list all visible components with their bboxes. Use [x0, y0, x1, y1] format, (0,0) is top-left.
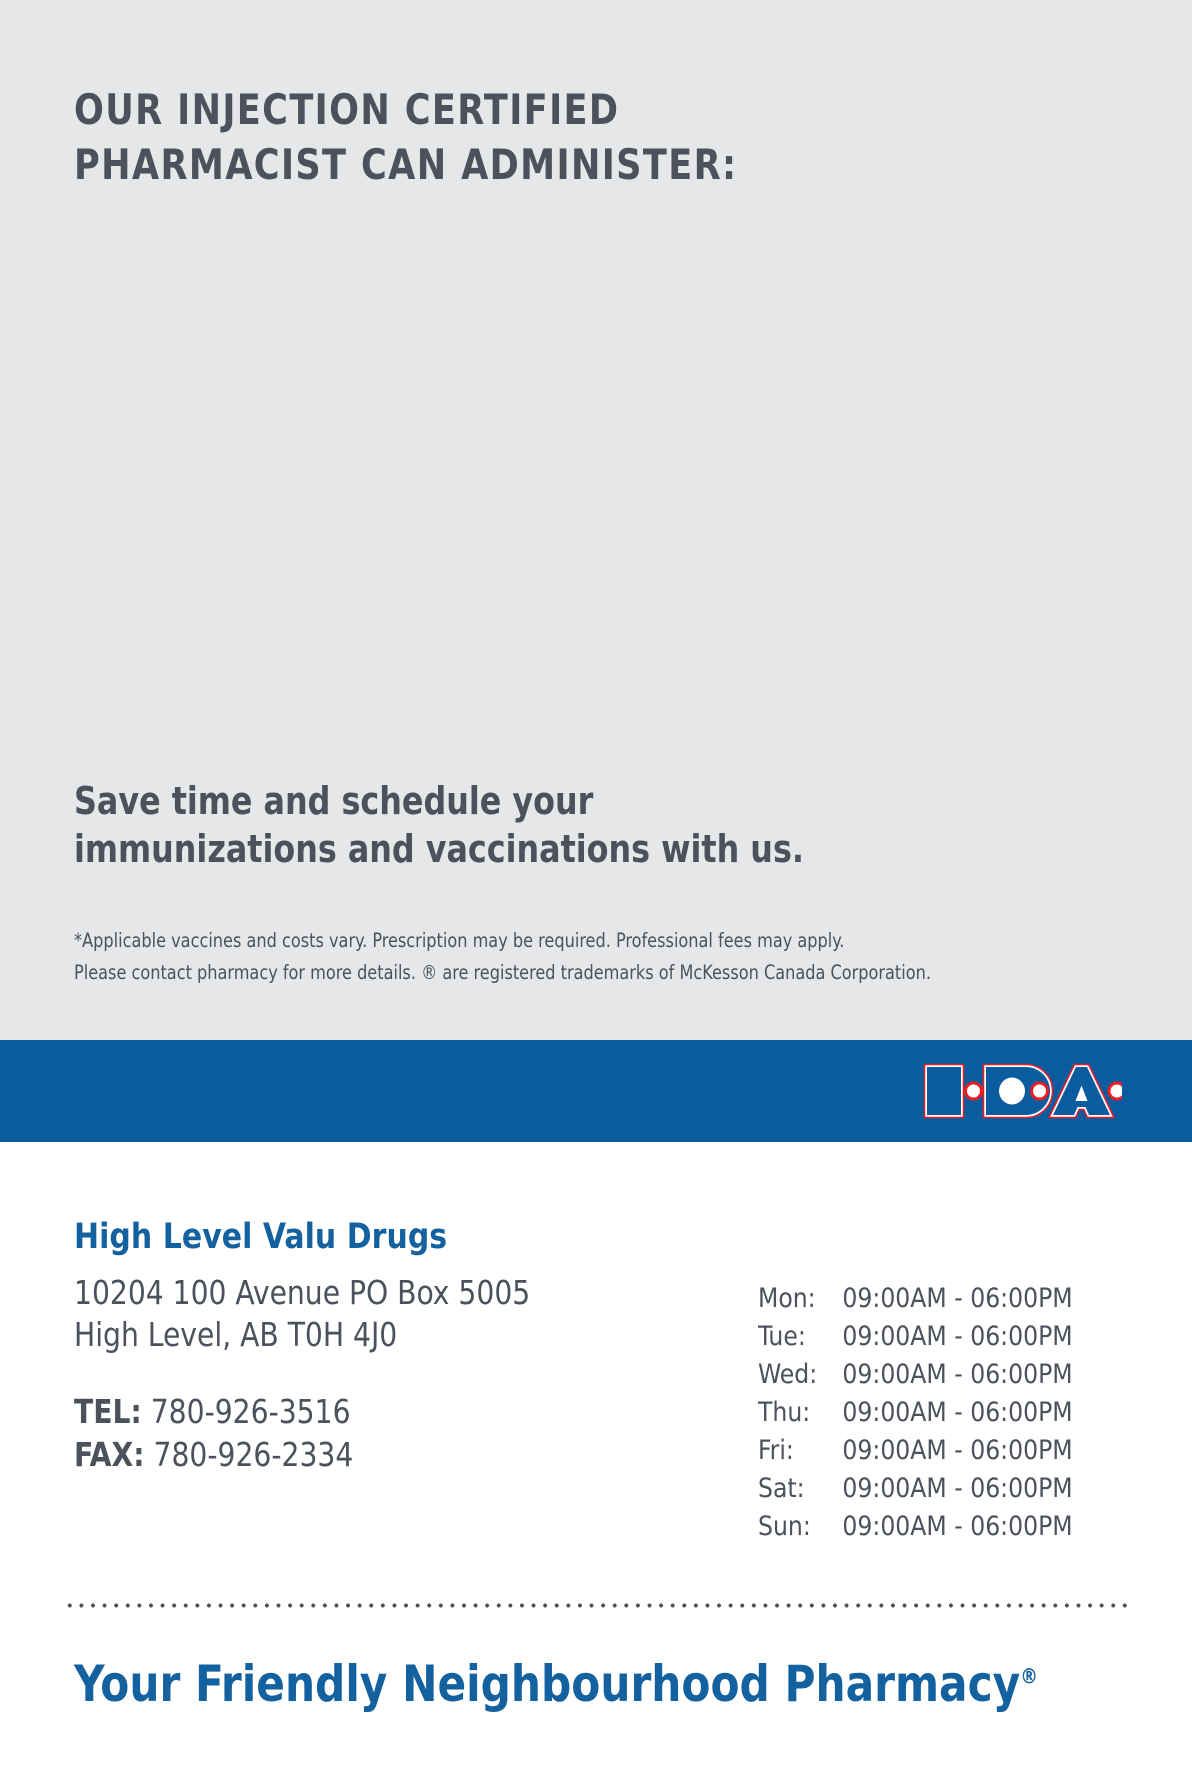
- table-row: Sun: 09:00AM - 06:00PM: [758, 1513, 1073, 1551]
- store-address: 10204 100 Avenue PO Box 5005 High Level,…: [74, 1272, 530, 1356]
- hours-time-value: 09:00AM - 06:00PM: [842, 1361, 1072, 1399]
- dotted-divider: [64, 1602, 1128, 1609]
- address-line-1: 10204 100 Avenue PO Box 5005: [74, 1273, 530, 1312]
- headline-line-1: OUR INJECTION CERTIFIED: [74, 85, 619, 134]
- brand-band: ®: [0, 1040, 1192, 1142]
- hours-day-label: Mon:: [758, 1285, 842, 1323]
- hours-time-value: 09:00AM - 06:00PM: [842, 1437, 1072, 1475]
- fax-row: FAX: 780-926-2334: [74, 1434, 353, 1477]
- table-row: Sat: 09:00AM - 06:00PM: [758, 1475, 1073, 1513]
- address-line-2: High Level, AB T0H 4J0: [74, 1314, 530, 1356]
- store-hours-body: Mon: 09:00AM - 06:00PM Tue: 09:00AM - 06…: [758, 1285, 1073, 1551]
- hours-time-value: 09:00AM - 06:00PM: [842, 1285, 1072, 1323]
- hours-day-label: Wed:: [758, 1361, 842, 1399]
- subheading-line-1: Save time and schedule your: [74, 779, 593, 823]
- store-name: High Level Valu Drugs: [74, 1218, 447, 1257]
- hours-day-label: Fri:: [758, 1437, 842, 1475]
- disclaimer: *Applicable vaccines and costs vary. Pre…: [74, 925, 1049, 988]
- store-hours-table: Mon: 09:00AM - 06:00PM Tue: 09:00AM - 06…: [758, 1285, 1073, 1551]
- headline-line-2: PHARMACIST CAN ADMINISTER:: [74, 138, 911, 193]
- disclaimer-line-1: *Applicable vaccines and costs vary. Pre…: [74, 929, 844, 952]
- tagline-text: Your Friendly Neighbourhood Pharmacy: [74, 1655, 1020, 1713]
- top-gray-panel: OUR INJECTION CERTIFIED PHARMACIST CAN A…: [0, 0, 1192, 1040]
- hours-day-label: Thu:: [758, 1399, 842, 1437]
- table-row: Tue: 09:00AM - 06:00PM: [758, 1323, 1073, 1361]
- telephone-value[interactable]: 780-926-3516: [151, 1392, 351, 1431]
- disclaimer-line-2: Please contact pharmacy for more details…: [74, 957, 1049, 989]
- hours-time-value: 09:00AM - 06:00PM: [842, 1399, 1072, 1437]
- store-contact: TEL: 780-926-3516 FAX: 780-926-2334: [74, 1391, 353, 1477]
- store-info-footer: High Level Valu Drugs 10204 100 Avenue P…: [0, 1142, 1192, 1785]
- telephone-label: TEL:: [74, 1392, 142, 1431]
- table-row: Fri: 09:00AM - 06:00PM: [758, 1437, 1073, 1475]
- table-row: Wed: 09:00AM - 06:00PM: [758, 1361, 1073, 1399]
- fax-label: FAX:: [74, 1435, 145, 1474]
- hours-day-label: Tue:: [758, 1323, 842, 1361]
- subheading: Save time and schedule your immunization…: [74, 778, 911, 874]
- telephone-row: TEL: 780-926-3516: [74, 1391, 353, 1434]
- footer-tagline: Your Friendly Neighbourhood Pharmacy®: [74, 1657, 1038, 1712]
- hours-time-value: 09:00AM - 06:00PM: [842, 1513, 1072, 1551]
- subheading-line-2: immunizations and vaccinations with us.: [74, 826, 911, 874]
- registered-trademark-icon: ®: [1020, 1664, 1038, 1688]
- flyer-page: OUR INJECTION CERTIFIED PHARMACIST CAN A…: [0, 0, 1192, 1785]
- table-row: Mon: 09:00AM - 06:00PM: [758, 1285, 1073, 1323]
- hours-day-label: Sun:: [758, 1513, 842, 1551]
- page-title: OUR INJECTION CERTIFIED PHARMACIST CAN A…: [74, 83, 911, 192]
- hours-day-label: Sat:: [758, 1475, 842, 1513]
- table-row: Thu: 09:00AM - 06:00PM: [758, 1399, 1073, 1437]
- hours-time-value: 09:00AM - 06:00PM: [842, 1323, 1072, 1361]
- fax-value[interactable]: 780-926-2334: [154, 1435, 354, 1474]
- ida-logo: [922, 1058, 1122, 1124]
- hours-time-value: 09:00AM - 06:00PM: [842, 1475, 1072, 1513]
